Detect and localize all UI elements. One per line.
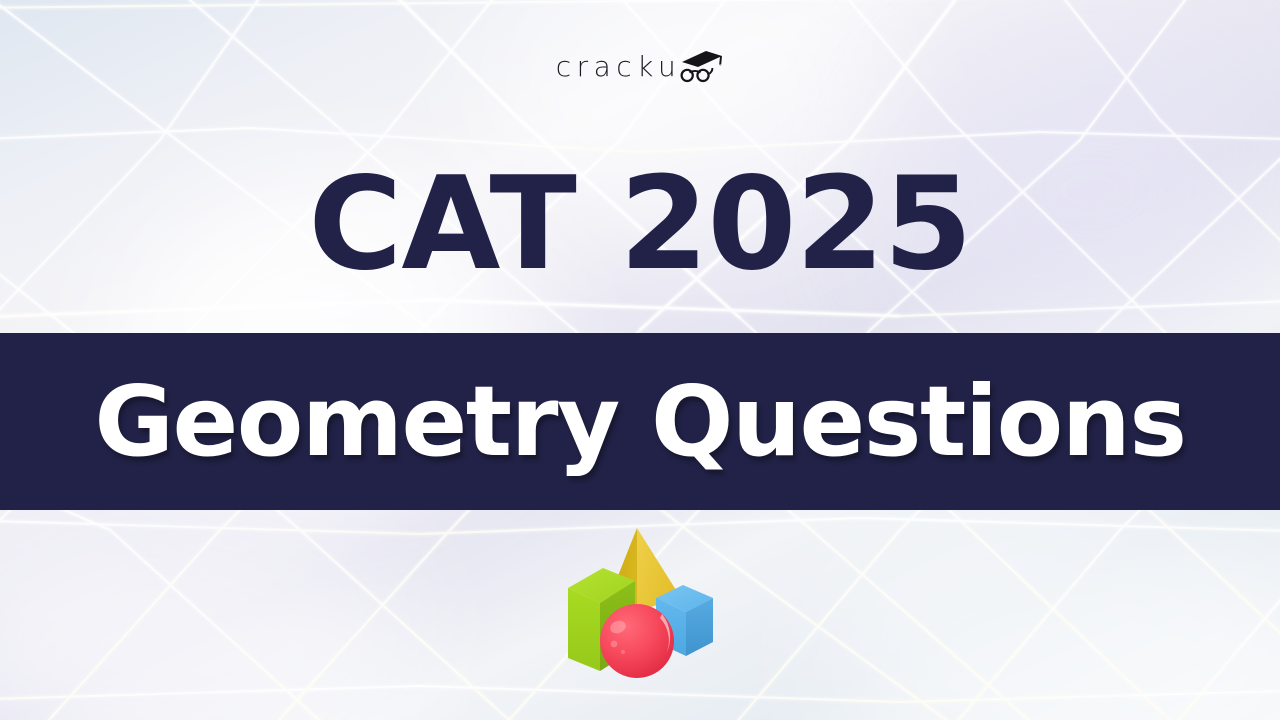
background-glow (820, 520, 1280, 720)
subtitle-text: Geometry Questions (94, 373, 1185, 470)
geometric-solids-illustration (550, 519, 730, 679)
geometric-solids-svg (550, 519, 730, 679)
page-title: CAT 2025 (0, 160, 1280, 291)
brand-logo: cracku (0, 49, 1280, 84)
brand-name: cracku (556, 53, 682, 81)
sphere-shape (600, 604, 674, 678)
poster-canvas: cracku CAT 2025 Geometry Questions (0, 0, 1280, 720)
headline-text: CAT 2025 (0, 160, 1280, 291)
graduation-cap-glasses-icon (680, 50, 724, 84)
background-glow (0, 520, 420, 720)
subtitle-band: Geometry Questions (0, 333, 1280, 510)
